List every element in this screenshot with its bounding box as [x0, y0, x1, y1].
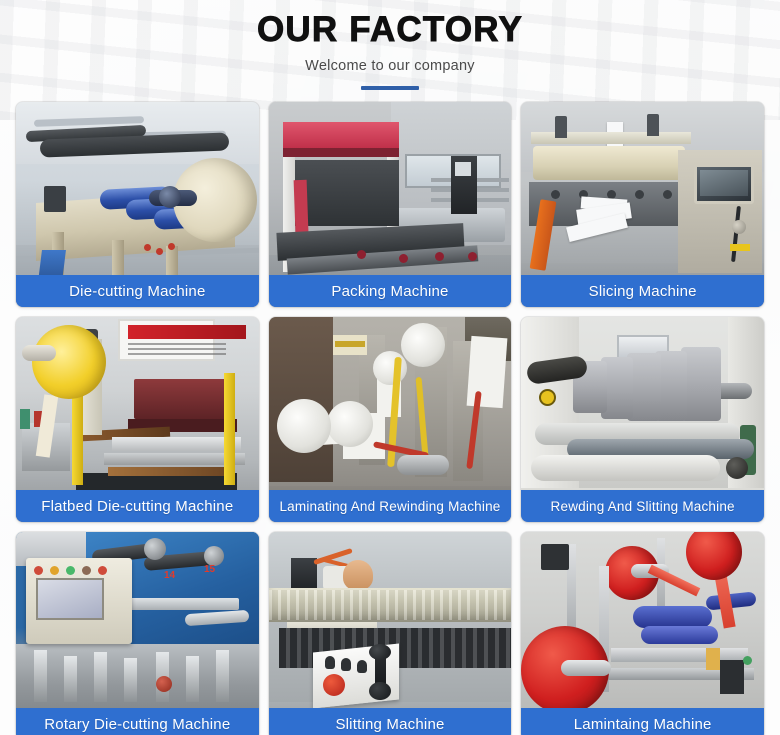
- gallery-card-laminating-machine[interactable]: Lamintaing Machine: [521, 532, 764, 735]
- page-title: OUR FACTORY: [0, 10, 780, 49]
- card-caption: Laminating And Rewinding Machine: [269, 490, 512, 522]
- card-caption: Die-cutting Machine: [16, 275, 259, 307]
- page-header: OUR FACTORY Welcome to our company: [0, 0, 780, 90]
- card-caption: Rotary Die-cutting Machine: [16, 708, 259, 735]
- card-caption: Rewding And Slitting Machine: [521, 490, 764, 522]
- gallery-card-rewinding-and-slitting-machine[interactable]: Rewding And Slitting Machine: [521, 317, 764, 522]
- gallery-card-slitting-machine[interactable]: Slitting Machine: [269, 532, 512, 735]
- page-subtitle: Welcome to our company: [0, 58, 780, 74]
- card-caption: Flatbed Die-cutting Machine: [16, 490, 259, 522]
- title-divider: [361, 86, 419, 90]
- photo-slitting-machine: [269, 532, 512, 735]
- gallery-card-die-cutting-machine[interactable]: Die-cutting Machine: [16, 102, 259, 307]
- gallery-card-packing-machine[interactable]: Packing Machine: [269, 102, 512, 307]
- photo-rotary-die-cutting-machine: 131415: [16, 532, 259, 735]
- card-caption: Lamintaing Machine: [521, 708, 764, 735]
- gallery-card-laminating-and-rewinding-machine[interactable]: Laminating And Rewinding Machine: [269, 317, 512, 522]
- gallery-card-slicing-machine[interactable]: Slicing Machine: [521, 102, 764, 307]
- photo-laminating-machine: [521, 532, 764, 735]
- card-caption: Packing Machine: [269, 275, 512, 307]
- factory-photo-grid: Die-cutting Machine Packing Machine: [16, 102, 764, 735]
- gallery-card-rotary-die-cutting-machine[interactable]: 131415 Rotary Die-cutting Machine: [16, 532, 259, 735]
- card-caption: Slitting Machine: [269, 708, 512, 735]
- card-caption: Slicing Machine: [521, 275, 764, 307]
- gallery-card-flatbed-die-cutting-machine[interactable]: Flatbed Die-cutting Machine: [16, 317, 259, 522]
- factory-gallery-page: OUR FACTORY Welcome to our company Die-c…: [0, 0, 780, 735]
